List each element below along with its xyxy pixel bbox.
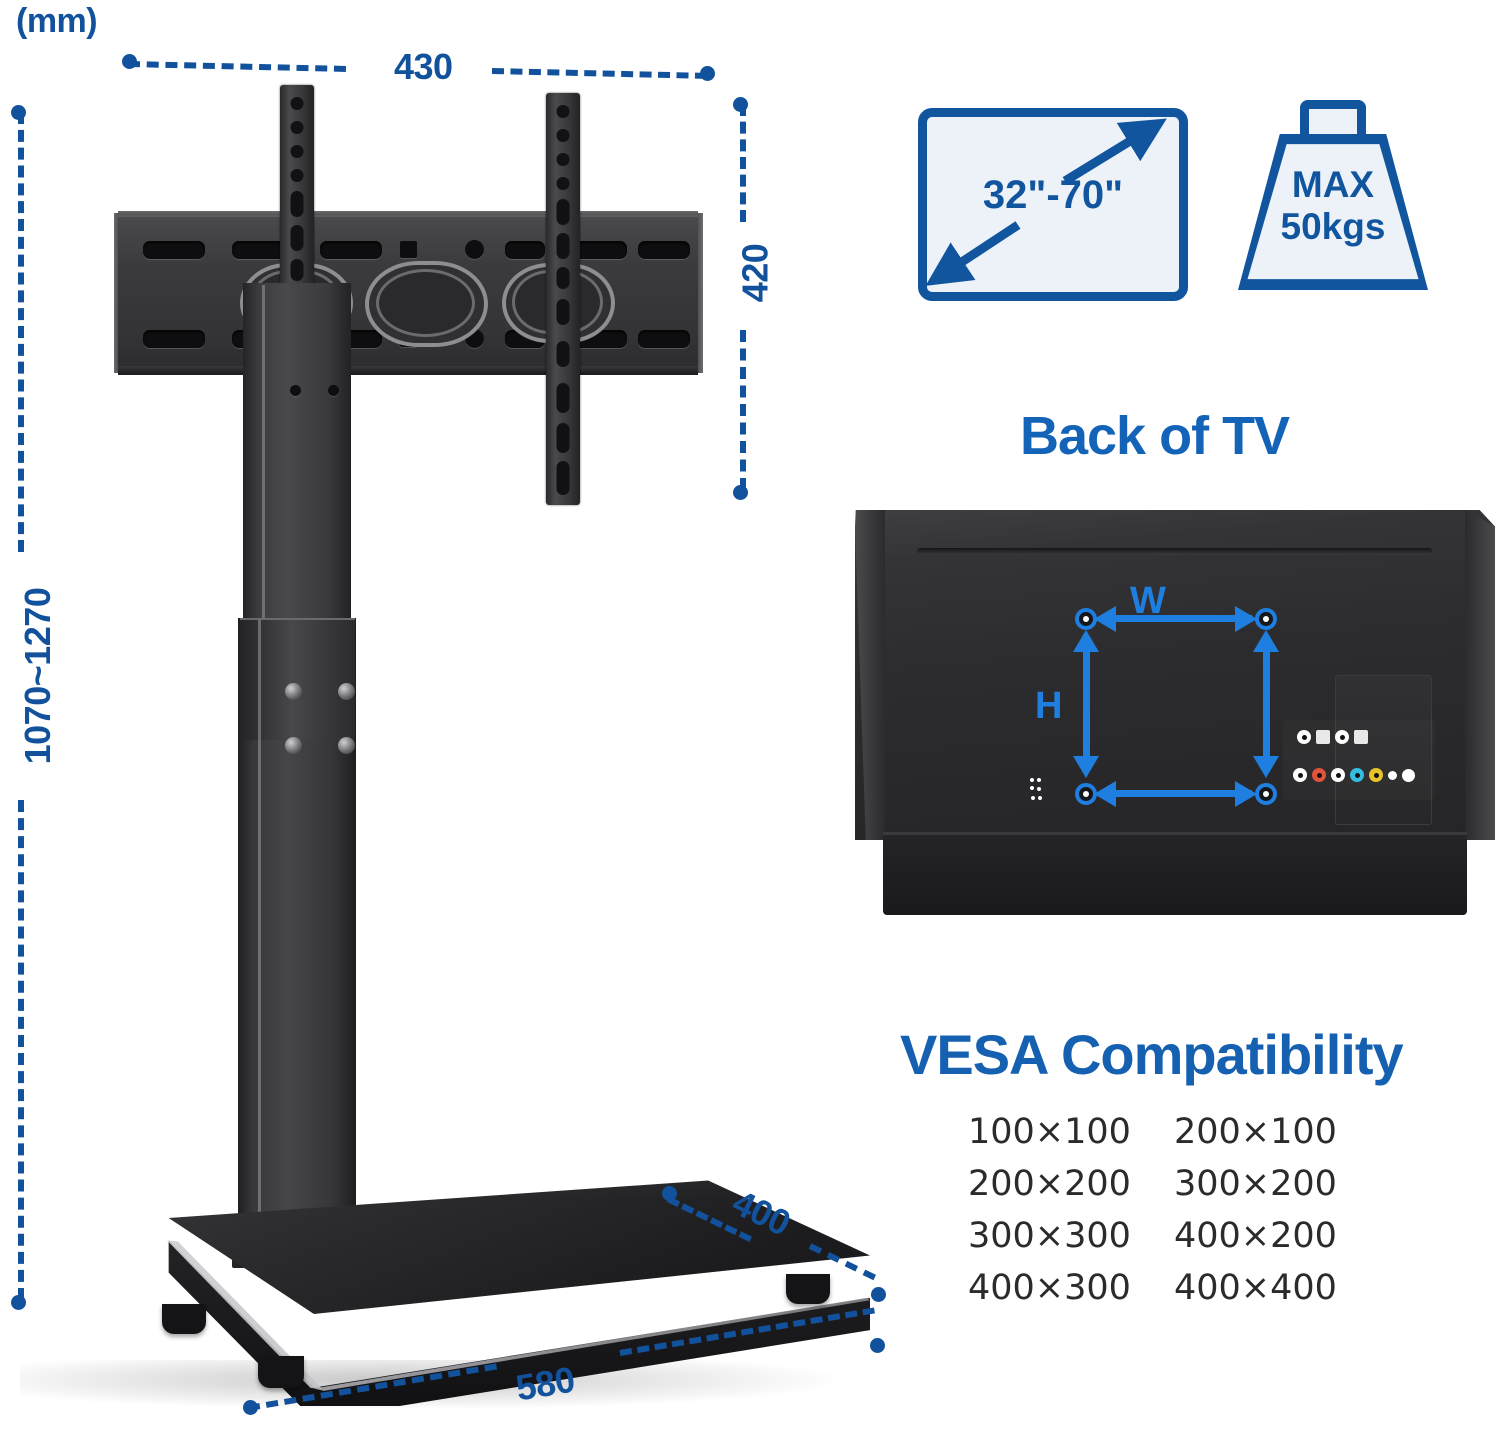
port-av-cyan bbox=[1350, 768, 1364, 782]
vesa-size-cell: 100×100 bbox=[968, 1112, 1174, 1152]
vesa-size-cell: 400×200 bbox=[1174, 1216, 1388, 1256]
vesa-size-cell: 200×100 bbox=[1174, 1112, 1388, 1152]
plate-slot bbox=[143, 241, 205, 259]
vesa-hole-top-right bbox=[1255, 608, 1277, 630]
vesa-h-label: H bbox=[1035, 685, 1062, 728]
tv-back-illustration bbox=[855, 510, 1495, 920]
vesa-w-arrow-left-2 bbox=[1094, 781, 1116, 807]
port-round bbox=[1297, 730, 1311, 744]
units-label: (mm) bbox=[16, 2, 97, 41]
vesa-h-arrow-down bbox=[1073, 756, 1099, 778]
vesa-size-cell: 200×200 bbox=[968, 1164, 1174, 1204]
spec-diagram: (mm) 430 420 1070~1270 bbox=[0, 0, 1500, 1439]
dim-430-endpoint-right bbox=[700, 66, 715, 81]
tv-lower-housing bbox=[883, 835, 1467, 915]
vesa-h-line-left bbox=[1083, 648, 1090, 758]
port-small bbox=[1402, 769, 1415, 782]
dim-430-label: 430 bbox=[394, 46, 453, 88]
diagonal-arrow-up-right bbox=[1053, 113, 1173, 191]
plate-square-hole bbox=[400, 241, 417, 258]
port-square bbox=[1354, 730, 1368, 744]
vesa-h-arrow-up bbox=[1073, 630, 1099, 652]
tv-port-row-av bbox=[1293, 768, 1415, 782]
pole-seam-upper bbox=[262, 285, 265, 620]
plate-slot bbox=[143, 330, 205, 348]
pole-hole bbox=[290, 385, 301, 396]
vesa-w-label: W bbox=[1130, 580, 1166, 623]
port-av-white bbox=[1293, 768, 1307, 782]
port-av-red bbox=[1312, 768, 1326, 782]
vesa-w-line-bottom bbox=[1112, 790, 1252, 797]
vesa-h-arrow-down-2 bbox=[1253, 756, 1279, 778]
dim-420-endpoint-bottom bbox=[733, 485, 748, 500]
mounting-rail-right bbox=[546, 93, 580, 505]
port-av-yellow bbox=[1369, 768, 1383, 782]
dim-420-line-bottom bbox=[740, 330, 746, 490]
vesa-hole-bottom-right bbox=[1255, 783, 1277, 805]
dim-430-line-left bbox=[128, 61, 346, 72]
vesa-h-line-right bbox=[1263, 648, 1270, 758]
port-small bbox=[1388, 771, 1397, 780]
dim-580-endpoint-b bbox=[870, 1338, 885, 1353]
port-round bbox=[1335, 730, 1349, 744]
pole-bolt bbox=[338, 737, 355, 754]
pole-hole bbox=[328, 385, 339, 396]
plate-slot bbox=[505, 241, 545, 259]
pole-bolt bbox=[338, 683, 355, 700]
max-weight-badge: MAX 50kgs bbox=[1238, 100, 1428, 290]
port-square bbox=[1316, 730, 1330, 744]
pole-seam-lower bbox=[258, 620, 261, 1260]
vesa-size-cell: 300×300 bbox=[968, 1216, 1174, 1256]
plate-lip-bottom bbox=[118, 366, 698, 374]
dim-420-line-top bbox=[740, 104, 746, 222]
vesa-w-arrow-left bbox=[1094, 606, 1116, 632]
dim-430-line-right bbox=[492, 68, 707, 79]
plate-slot bbox=[638, 241, 690, 259]
plate-slot bbox=[638, 330, 690, 348]
plate-slot bbox=[320, 241, 382, 259]
tv-bevel-right bbox=[1465, 510, 1495, 840]
screen-size-badge: 32"-70" bbox=[918, 108, 1188, 301]
tv-top-groove bbox=[917, 548, 1432, 555]
weight-label-max: MAX bbox=[1238, 164, 1428, 206]
base-foot bbox=[258, 1356, 304, 1388]
tv-port-row-top bbox=[1297, 730, 1368, 744]
base-foot bbox=[786, 1274, 830, 1304]
tv-port-cluster bbox=[1283, 720, 1435, 800]
plate-round-hole bbox=[465, 240, 484, 259]
base-foot bbox=[162, 1304, 206, 1334]
vesa-size-cell: 400×400 bbox=[1174, 1268, 1388, 1308]
vesa-size-cell: 300×200 bbox=[1174, 1164, 1388, 1204]
diagonal-arrow-down-left bbox=[923, 217, 1043, 295]
cable-eye-center-inner bbox=[376, 269, 475, 337]
port-av-white bbox=[1331, 768, 1345, 782]
vesa-compatibility-title: VESA Compatibility bbox=[900, 1022, 1403, 1087]
dim-420-label: 420 bbox=[734, 244, 776, 303]
pole-bolt bbox=[285, 737, 302, 754]
pole-bolt bbox=[285, 683, 302, 700]
vesa-w-arrow-right-2 bbox=[1235, 781, 1257, 807]
tv-mount-bracket-illustration bbox=[110, 85, 730, 505]
dim-height-line-bottom bbox=[18, 800, 24, 1300]
dim-height-line-top bbox=[18, 112, 24, 552]
stand-pole-upper bbox=[243, 283, 351, 623]
back-of-tv-title: Back of TV bbox=[1020, 405, 1289, 467]
vesa-size-cell: 400×300 bbox=[968, 1268, 1174, 1308]
vesa-size-grid: 100×100200×100200×200300×200300×300400×2… bbox=[968, 1112, 1388, 1308]
vesa-h-arrow-up-2 bbox=[1253, 630, 1279, 652]
vesa-w-arrow-right bbox=[1235, 606, 1257, 632]
dim-height-label: 1070~1270 bbox=[17, 556, 59, 796]
dim-height-endpoint-bottom bbox=[11, 1295, 26, 1310]
dim-400-endpoint-b bbox=[871, 1287, 886, 1302]
weight-label-value: 50kgs bbox=[1238, 206, 1428, 248]
